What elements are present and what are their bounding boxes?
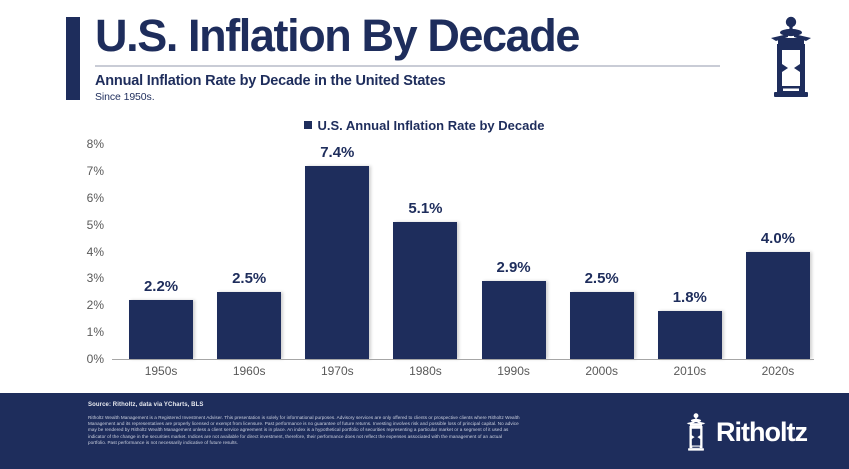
y-tick-label: 6%: [87, 191, 104, 205]
chart-legend: U.S. Annual Inflation Rate by Decade: [0, 118, 849, 133]
bar[interactable]: [129, 300, 193, 359]
brand-name: Ritholtz: [716, 417, 807, 448]
bar-slot: 1.8%: [646, 144, 734, 359]
bar[interactable]: [570, 292, 634, 359]
bar-slot: 4.0%: [734, 144, 822, 359]
x-tick-label: 1960s: [205, 364, 293, 386]
title-block: U.S. Inflation By Decade Annual Inflatio…: [95, 10, 735, 103]
disclaimer-line: portfolio. Past performance is not neces…: [88, 440, 648, 446]
bars-region: 2.2%2.5%7.4%5.1%2.9%2.5%1.8%4.0%: [117, 144, 822, 359]
legend-label: U.S. Annual Inflation Rate by Decade: [317, 118, 544, 133]
bar[interactable]: [393, 222, 457, 359]
bar-slot: 5.1%: [381, 144, 469, 359]
lantern-icon: [768, 14, 814, 105]
header: U.S. Inflation By Decade Annual Inflatio…: [0, 0, 849, 112]
infographic-page: U.S. Inflation By Decade Annual Inflatio…: [0, 0, 849, 469]
bar-slot: 2.2%: [117, 144, 205, 359]
footer: Source: Ritholtz, data via YCharts, BLS …: [0, 393, 849, 469]
source-text: Source: Ritholtz, data via YCharts, BLS: [88, 402, 203, 408]
y-tick-label: 1%: [87, 325, 104, 339]
brand-logo: Ritholtz: [683, 412, 807, 452]
bar-value-label: 2.5%: [585, 270, 619, 287]
page-title: U.S. Inflation By Decade: [95, 10, 735, 62]
bar-slot: 2.9%: [470, 144, 558, 359]
y-tick-label: 7%: [87, 164, 104, 178]
bar-slot: 7.4%: [293, 144, 381, 359]
bar[interactable]: [217, 292, 281, 359]
bar-value-label: 1.8%: [673, 289, 707, 306]
x-tick-label: 1990s: [470, 364, 558, 386]
bar[interactable]: [658, 311, 722, 359]
x-axis-line: [112, 359, 814, 360]
bar-value-label: 2.2%: [144, 278, 178, 295]
x-tick-label: 1980s: [381, 364, 469, 386]
x-axis-labels: 1950s1960s1970s1980s1990s2000s2010s2020s: [117, 364, 822, 386]
bar[interactable]: [482, 281, 546, 359]
y-axis: 8%7%6%5%4%3%2%1%0%: [62, 144, 104, 359]
plot-area: 8%7%6%5%4%3%2%1%0% 2.2%2.5%7.4%5.1%2.9%2…: [62, 144, 822, 384]
x-tick-label: 1950s: [117, 364, 205, 386]
x-tick-label: 1970s: [293, 364, 381, 386]
lantern-icon: [683, 412, 709, 452]
disclaimer-text: Ritholtz Wealth Management is a Register…: [88, 415, 648, 446]
chart: U.S. Annual Inflation Rate by Decade 8%7…: [0, 112, 849, 390]
bar-value-label: 4.0%: [761, 230, 795, 247]
y-tick-label: 2%: [87, 298, 104, 312]
x-tick-label: 2020s: [734, 364, 822, 386]
page-subtitle: Annual Inflation Rate by Decade in the U…: [95, 73, 735, 89]
bar-value-label: 7.4%: [320, 144, 354, 161]
bar-slot: 2.5%: [205, 144, 293, 359]
y-tick-label: 0%: [87, 352, 104, 366]
bar-value-label: 5.1%: [408, 200, 442, 217]
bar-value-label: 2.5%: [232, 270, 266, 287]
bar-slot: 2.5%: [558, 144, 646, 359]
bar-value-label: 2.9%: [496, 259, 530, 276]
title-accent-bar: [66, 17, 80, 100]
y-tick-label: 5%: [87, 218, 104, 232]
y-tick-label: 3%: [87, 271, 104, 285]
bar[interactable]: [305, 166, 369, 359]
y-tick-label: 4%: [87, 245, 104, 259]
title-divider: [95, 65, 720, 67]
bar[interactable]: [746, 252, 810, 360]
x-tick-label: 2010s: [646, 364, 734, 386]
page-subtitle-note: Since 1950s.: [95, 91, 735, 103]
legend-swatch-icon: [304, 121, 312, 129]
y-tick-label: 8%: [87, 137, 104, 151]
x-tick-label: 2000s: [558, 364, 646, 386]
